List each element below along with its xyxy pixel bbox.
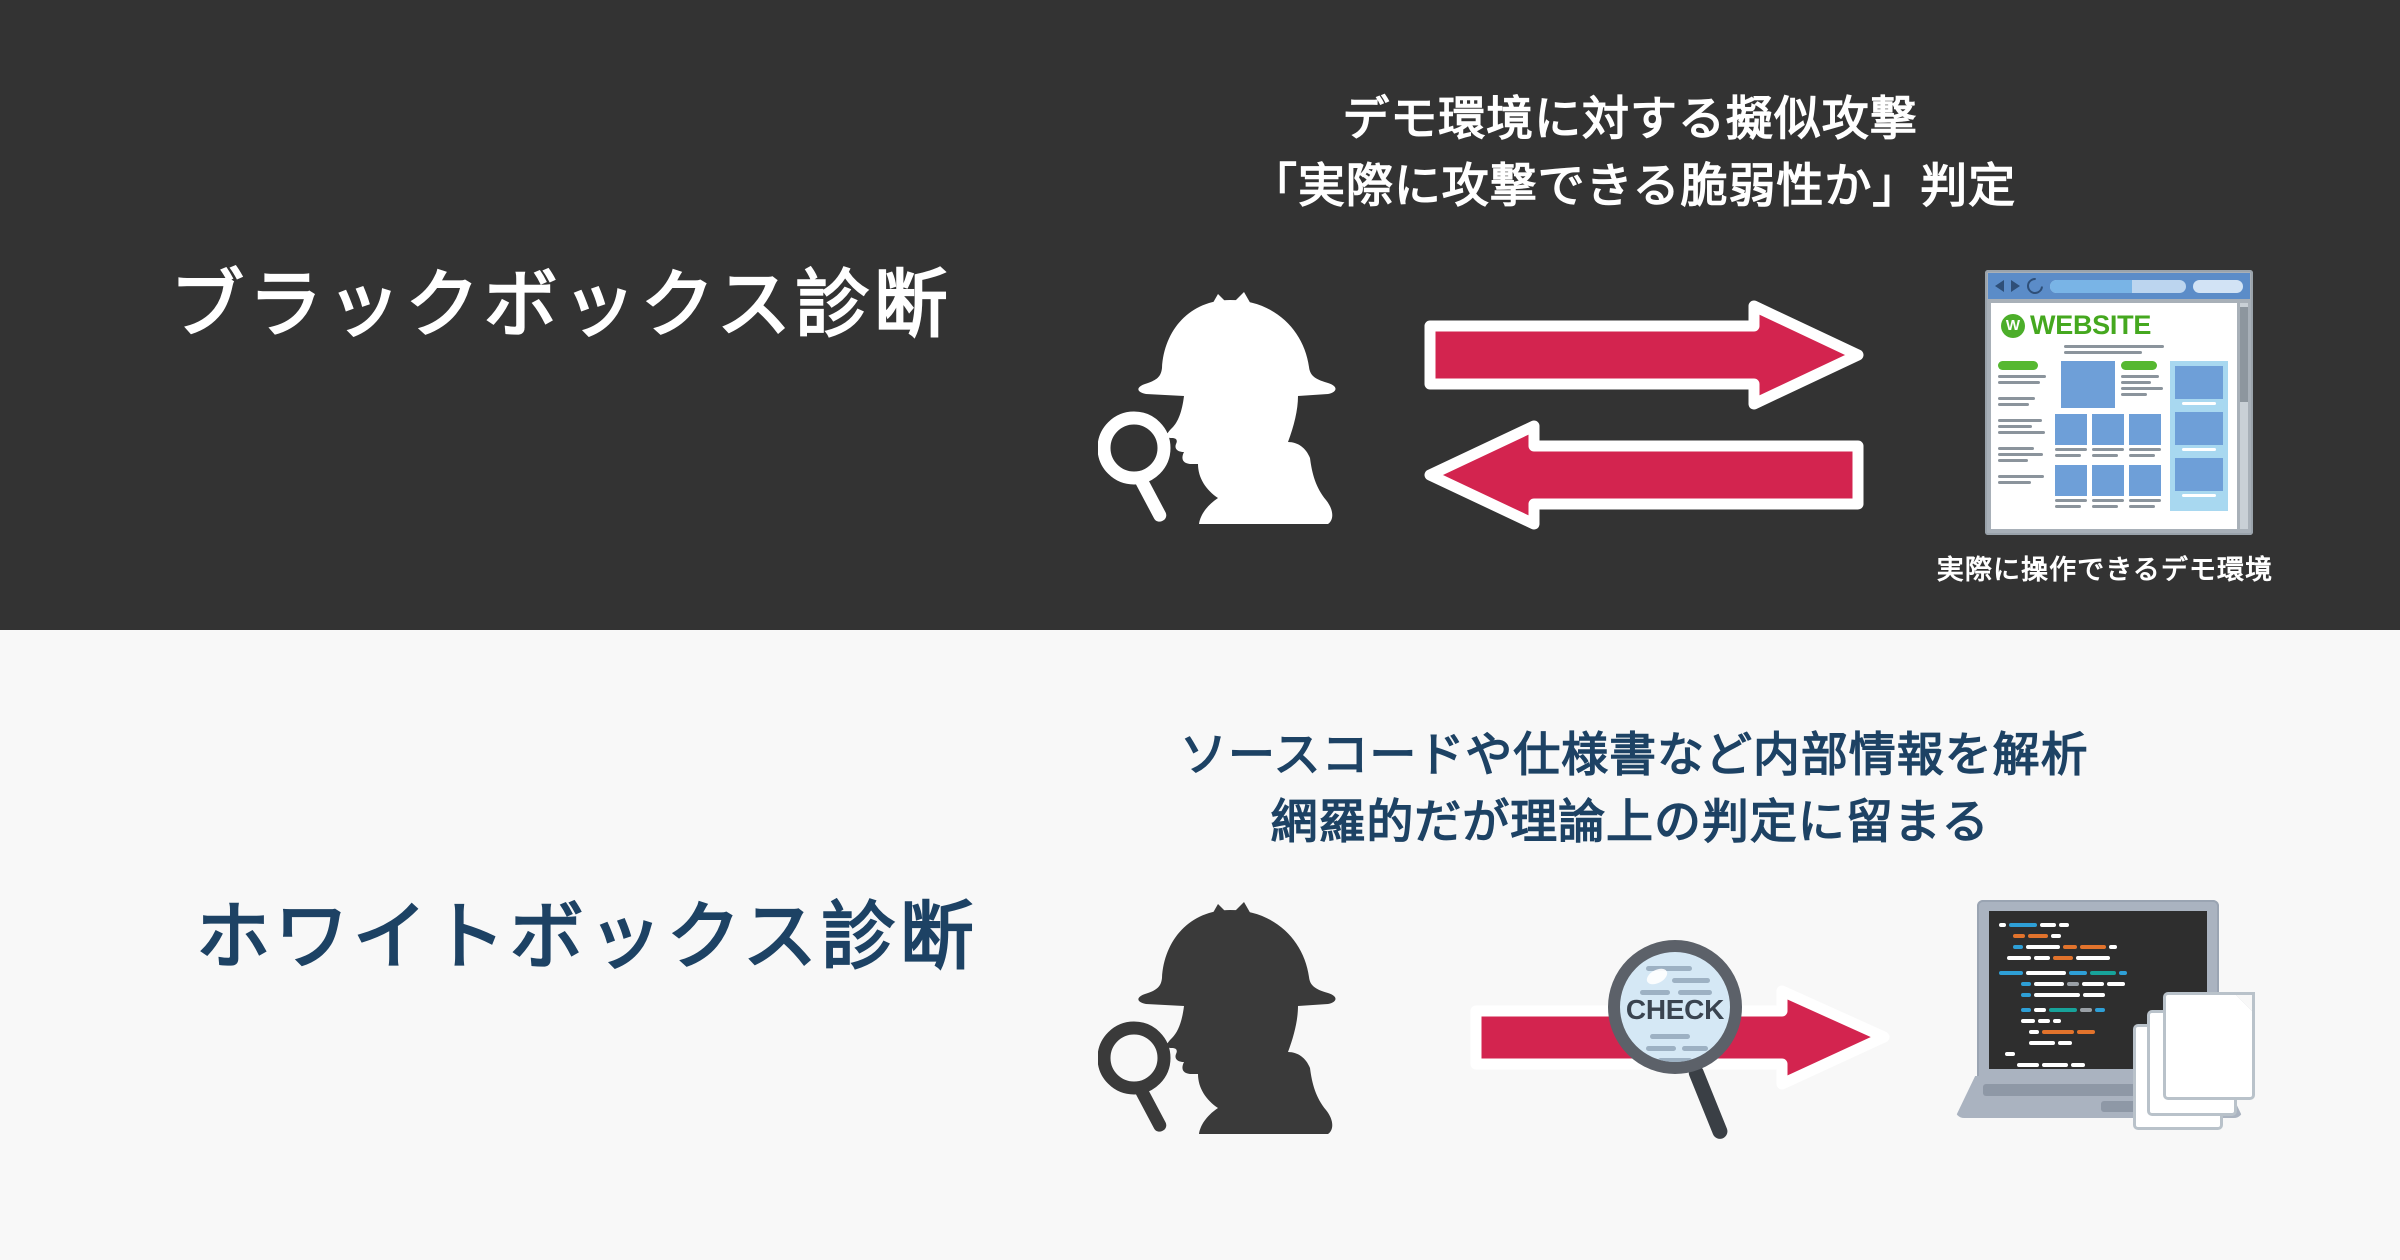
website-main-column	[2055, 361, 2163, 511]
triangle-right-icon[interactable]	[2011, 280, 2020, 292]
website-subtext	[2064, 345, 2164, 354]
search-bar[interactable]	[2193, 280, 2243, 293]
browser-page: W WEBSITE	[1991, 303, 2237, 529]
black-box-headline: デモ環境に対する擬似攻撃 「実際に攻撃できる脆弱性か」判定	[1250, 86, 2010, 219]
website-sidebar	[2170, 361, 2228, 511]
demo-environment-caption: 実際に操作できるデモ環境	[1905, 548, 2305, 587]
black-box-headline-line-2: 「実際に攻撃できる脆弱性か」判定	[1250, 153, 2010, 220]
detective-silhouette-icon	[1098, 882, 1388, 1172]
laptop-code-icon	[1955, 900, 2255, 1130]
website-logo-mark: W	[2001, 314, 2025, 338]
white-box-headline-line-2: 網羅的だが理論上の判定に留まる	[1180, 789, 2080, 856]
white-box-headline: ソースコードや仕様書など内部情報を解析 網羅的だが理論上の判定に留まる	[1180, 722, 2080, 855]
magnifier-lens: CHECK	[1608, 940, 1742, 1074]
black-box-headline-line-1: デモ環境に対する擬似攻撃	[1250, 86, 2010, 153]
black-box-title: ブラックボックス診断	[170, 268, 952, 342]
detective-silhouette-icon	[1098, 272, 1388, 562]
website-body	[1998, 361, 2237, 511]
arrow-left-icon	[1424, 420, 1864, 530]
document-page	[2163, 992, 2255, 1100]
infographic-canvas: ブラックボックス診断 デモ環境に対する擬似攻撃 「実際に攻撃できる脆弱性か」判定	[0, 0, 2400, 1260]
browser-toolbar	[1988, 273, 2250, 299]
magnifier-label: CHECK	[1620, 996, 1730, 1024]
arrow-right-icon	[1424, 300, 1864, 410]
address-bar[interactable]	[2050, 280, 2186, 293]
browser-scrollbar[interactable]	[2240, 303, 2248, 529]
website-logo-text: WEBSITE	[2030, 312, 2151, 339]
magnifier-handle	[1687, 1063, 1730, 1141]
website-mockup: W WEBSITE	[1985, 270, 2253, 535]
website-logo: W WEBSITE	[2001, 312, 2237, 339]
website-left-column	[1998, 361, 2050, 511]
reload-icon[interactable]	[2024, 275, 2047, 298]
triangle-left-icon[interactable]	[1995, 280, 2004, 292]
white-box-title: ホワイトボックス診断	[196, 900, 978, 974]
documents-stack-icon	[2133, 988, 2253, 1128]
black-box-section: ブラックボックス診断 デモ環境に対する擬似攻撃 「実際に攻撃できる脆弱性か」判定	[0, 0, 2400, 630]
magnifier-check-icon: CHECK	[1608, 940, 1788, 1150]
white-box-headline-line-1: ソースコードや仕様書など内部情報を解析	[1180, 722, 2080, 789]
